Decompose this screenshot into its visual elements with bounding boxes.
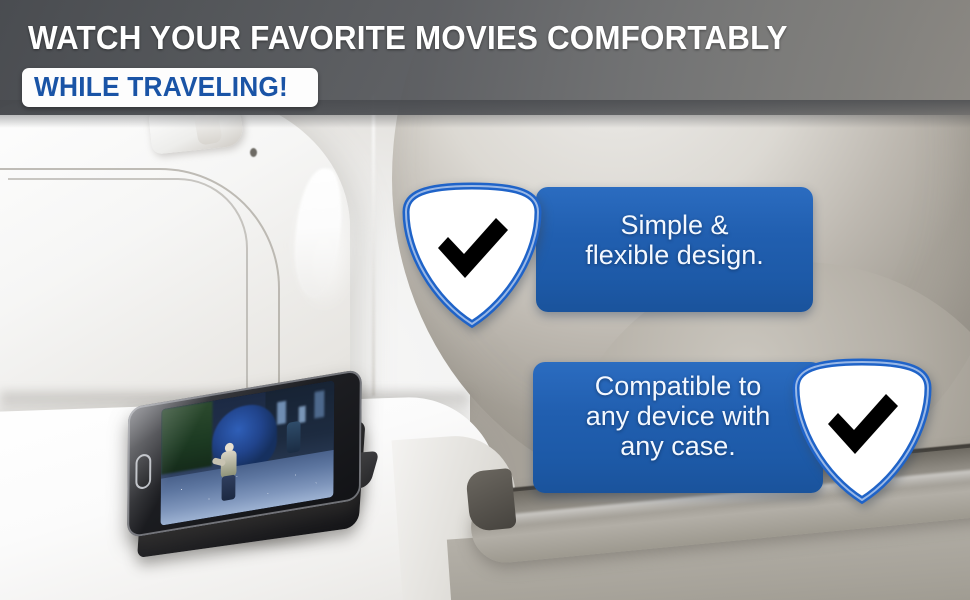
screen-scene-figure-background [287,421,301,454]
subheadline-badge: WHILE TRAVELING! [22,68,318,107]
feature-callout-compatible-any-device: Compatible to any device with any case. [533,354,970,506]
screen-scene-figure [216,441,242,504]
subheadline-text: WHILE TRAVELING! [34,73,288,101]
feature-text: Compatible to any device with any case. [533,371,823,462]
screen-scene-light-3 [314,390,324,418]
feature-text: Simple & flexible design. [536,210,813,270]
screen-scene-light-2 [299,406,306,423]
seat-seam-left [8,178,248,388]
smartphone-home-button [135,453,151,490]
screen-scene-foliage [161,401,213,475]
overhead-vent-screw [250,148,257,157]
product-feature-banner: WATCH YOUR FAVORITE MOVIES COMFORTABLY W… [0,0,970,600]
smartphone-screen [161,381,335,526]
armrest-end-cap [465,468,517,532]
cabin-panel-seam [372,96,375,396]
figure-legs [222,474,236,501]
feature-callout-simple-flexible-design: Simple & flexible design. [398,178,818,328]
check-icon [398,178,546,330]
page-title: WATCH YOUR FAVORITE MOVIES COMFORTABLY [28,21,902,54]
screen-scene-light-1 [277,401,286,425]
check-icon [788,354,936,506]
